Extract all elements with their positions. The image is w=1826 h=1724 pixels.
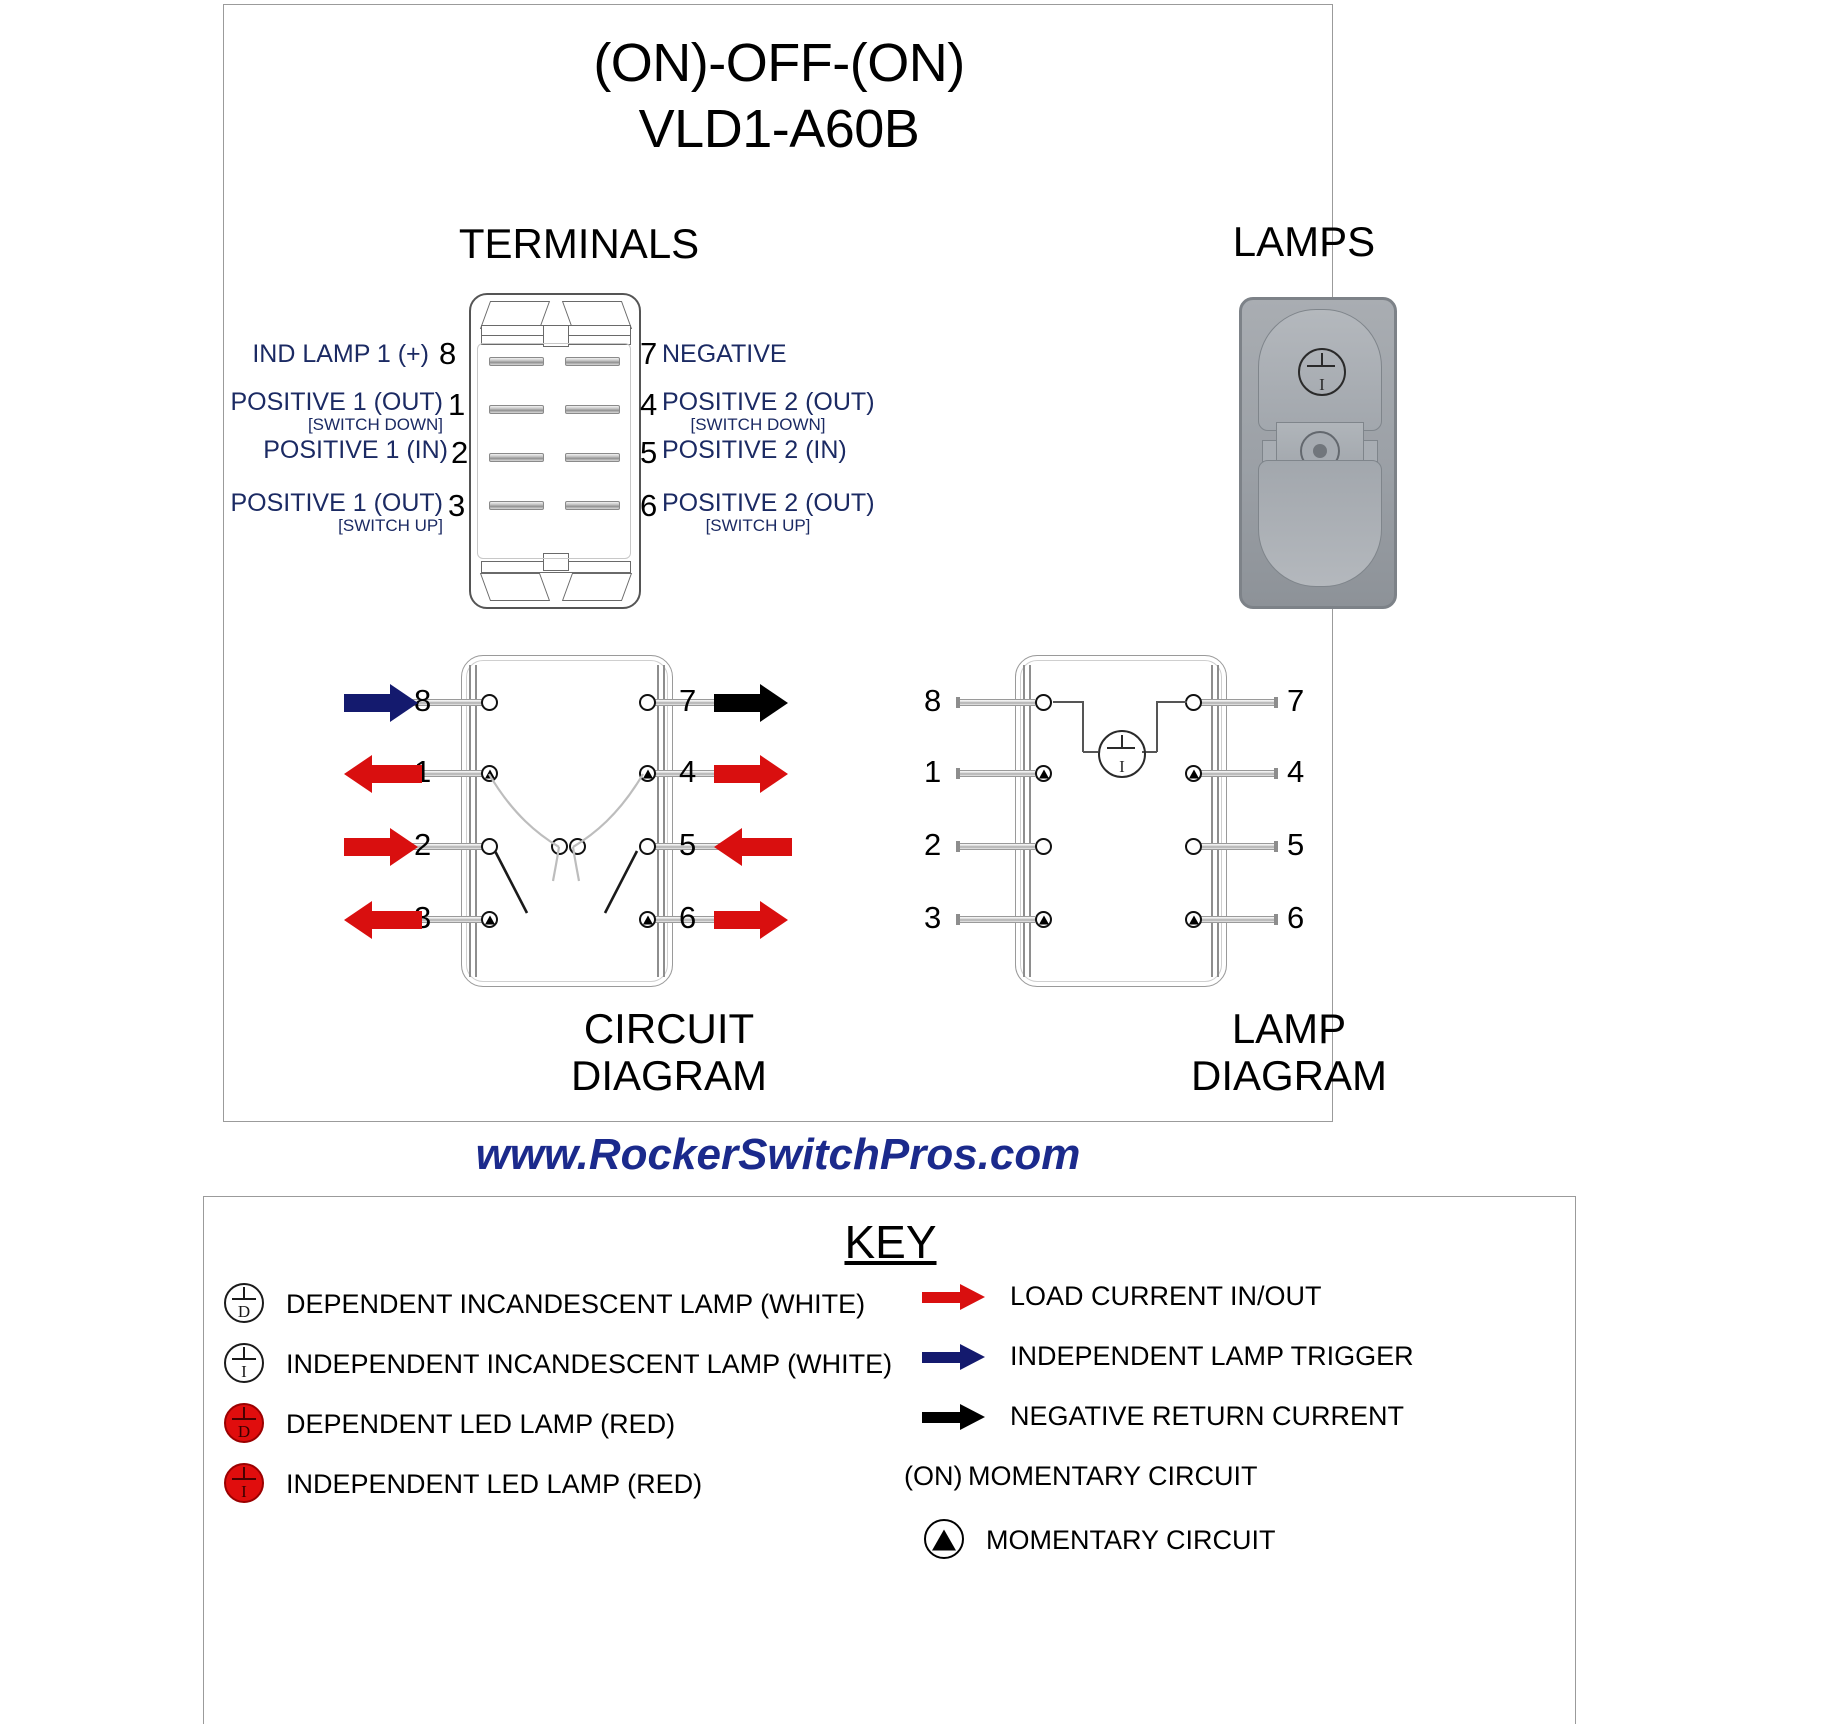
terminal-number-4: 4	[640, 387, 657, 423]
terminal-number-6: 6	[640, 488, 657, 524]
key-item-independent-incandescent: I INDEPENDENT INCANDESCENT LAMP (WHITE)	[222, 1341, 892, 1387]
terminal-label-7: NEGATIVE	[662, 340, 787, 369]
lamp-number-7: 7	[1287, 683, 1304, 719]
key-label: NEGATIVE RETURN CURRENT	[1010, 1401, 1404, 1432]
rocker-top-half: I	[1258, 309, 1382, 431]
terminal-label-8: IND LAMP 1 (+)	[224, 340, 429, 369]
black-arrow-icon	[922, 1404, 992, 1430]
lamp-number-2: 2	[924, 827, 941, 863]
momentary-triangle-icon	[922, 1517, 968, 1563]
key-item-load-current: LOAD CURRENT IN/OUT	[922, 1281, 1322, 1312]
terminal-label-2: POSITIVE 1 (IN)	[224, 436, 448, 465]
key-item-dependent-incandescent: D DEPENDENT INCANDESCENT LAMP (WHITE)	[222, 1281, 865, 1327]
terminals-heading: TERMINALS	[449, 220, 709, 268]
key-item-momentary-triangle: MOMENTARY CIRCUIT	[922, 1517, 1276, 1563]
title-line-2: VLD1-A60B	[224, 97, 1334, 163]
key-title: KEY	[204, 1215, 1577, 1269]
lamp-number-6: 6	[1287, 900, 1304, 936]
terminal-switch-illustration	[469, 293, 641, 609]
key-label: DEPENDENT INCANDESCENT LAMP (WHITE)	[286, 1289, 865, 1320]
key-item-dependent-led: D DEPENDENT LED LAMP (RED)	[222, 1401, 675, 1447]
terminal-label-6: POSITIVE 2 (OUT)	[662, 489, 875, 518]
independent-led-lamp-icon: I	[222, 1461, 268, 1507]
lamp-number-1: 1	[924, 754, 941, 790]
key-label: INDEPENDENT INCANDESCENT LAMP (WHITE)	[286, 1349, 892, 1380]
lamp-diagram-lamp-icon: I	[1098, 730, 1146, 778]
key-label: INDEPENDENT LED LAMP (RED)	[286, 1469, 702, 1500]
lamp-heading-line-2: DIAGRAM	[1124, 1052, 1454, 1099]
key-item-negative-return: NEGATIVE RETURN CURRENT	[922, 1401, 1404, 1432]
terminal-label-3: POSITIVE 1 (OUT)	[224, 489, 443, 518]
lamp-connection-wires	[1015, 655, 1225, 985]
terminal-label-4: POSITIVE 2 (OUT)	[662, 388, 875, 417]
terminal-number-1: 1	[448, 387, 465, 423]
terminal-number-8: 8	[439, 336, 456, 372]
terminal-sub-3: [SWITCH UP]	[224, 516, 443, 536]
lamp-number-8: 8	[924, 683, 941, 719]
website-url[interactable]: www.RockerSwitchPros.com	[223, 1130, 1333, 1180]
circuit-number-7: 7	[679, 683, 696, 719]
circuit-number-6: 6	[679, 900, 696, 936]
red-arrow-icon	[922, 1284, 992, 1310]
lamps-rocker-illustration: I	[1239, 297, 1397, 609]
momentary-on-label: (ON)	[904, 1461, 950, 1492]
key-label: INDEPENDENT LAMP TRIGGER	[1010, 1341, 1414, 1372]
terminal-number-7: 7	[640, 336, 657, 372]
circuit-number-5: 5	[679, 827, 696, 863]
terminal-label-1: POSITIVE 1 (OUT)	[224, 388, 443, 417]
title-line-1: (ON)-OFF-(ON)	[224, 31, 1334, 97]
lamp-number-4: 4	[1287, 754, 1304, 790]
key-item-momentary-on: (ON) MOMENTARY CIRCUIT	[904, 1461, 1258, 1492]
circuit-switch-blades	[461, 655, 671, 985]
circuit-heading-line-1: CIRCUIT	[504, 1005, 834, 1052]
terminal-label-5: POSITIVE 2 (IN)	[662, 436, 847, 465]
terminal-number-2: 2	[451, 435, 468, 471]
independent-incandescent-lamp-icon: I	[222, 1341, 268, 1387]
independent-incandescent-lamp-icon: I	[1298, 348, 1346, 396]
terminal-sub-1: [SWITCH DOWN]	[224, 415, 443, 435]
lamp-number-5: 5	[1287, 827, 1304, 863]
key-label: DEPENDENT LED LAMP (RED)	[286, 1409, 675, 1440]
terminal-sub-4: [SWITCH DOWN]	[662, 415, 854, 435]
key-label: MOMENTARY CIRCUIT	[986, 1525, 1276, 1556]
rocker-bottom-half	[1258, 460, 1382, 587]
lamp-heading-line-1: LAMP	[1124, 1005, 1454, 1052]
lamp-diagram-heading: LAMP DIAGRAM	[1124, 1005, 1454, 1099]
dependent-led-lamp-icon: D	[222, 1401, 268, 1447]
lamps-heading: LAMPS	[1184, 218, 1424, 266]
terminal-number-5: 5	[640, 435, 657, 471]
terminal-sub-6: [SWITCH UP]	[662, 516, 854, 536]
terminal-number-3: 3	[448, 488, 465, 524]
key-item-independent-led: I INDEPENDENT LED LAMP (RED)	[222, 1461, 702, 1507]
blue-arrow-icon	[922, 1344, 992, 1370]
key-label: LOAD CURRENT IN/OUT	[1010, 1281, 1322, 1312]
circuit-heading-line-2: DIAGRAM	[504, 1052, 834, 1099]
page-title: (ON)-OFF-(ON) VLD1-A60B	[224, 31, 1334, 163]
diagram-panel: (ON)-OFF-(ON) VLD1-A60B TERMINALS LAMPS …	[223, 4, 1333, 1122]
circuit-number-4: 4	[679, 754, 696, 790]
key-item-independent-lamp-trigger: INDEPENDENT LAMP TRIGGER	[922, 1341, 1414, 1372]
lamp-number-3: 3	[924, 900, 941, 936]
dependent-incandescent-lamp-icon: D	[222, 1281, 268, 1327]
key-panel: KEY D DEPENDENT INCANDESCENT LAMP (WHITE…	[203, 1196, 1576, 1724]
circuit-diagram-heading: CIRCUIT DIAGRAM	[504, 1005, 834, 1099]
key-label: MOMENTARY CIRCUIT	[968, 1461, 1258, 1492]
